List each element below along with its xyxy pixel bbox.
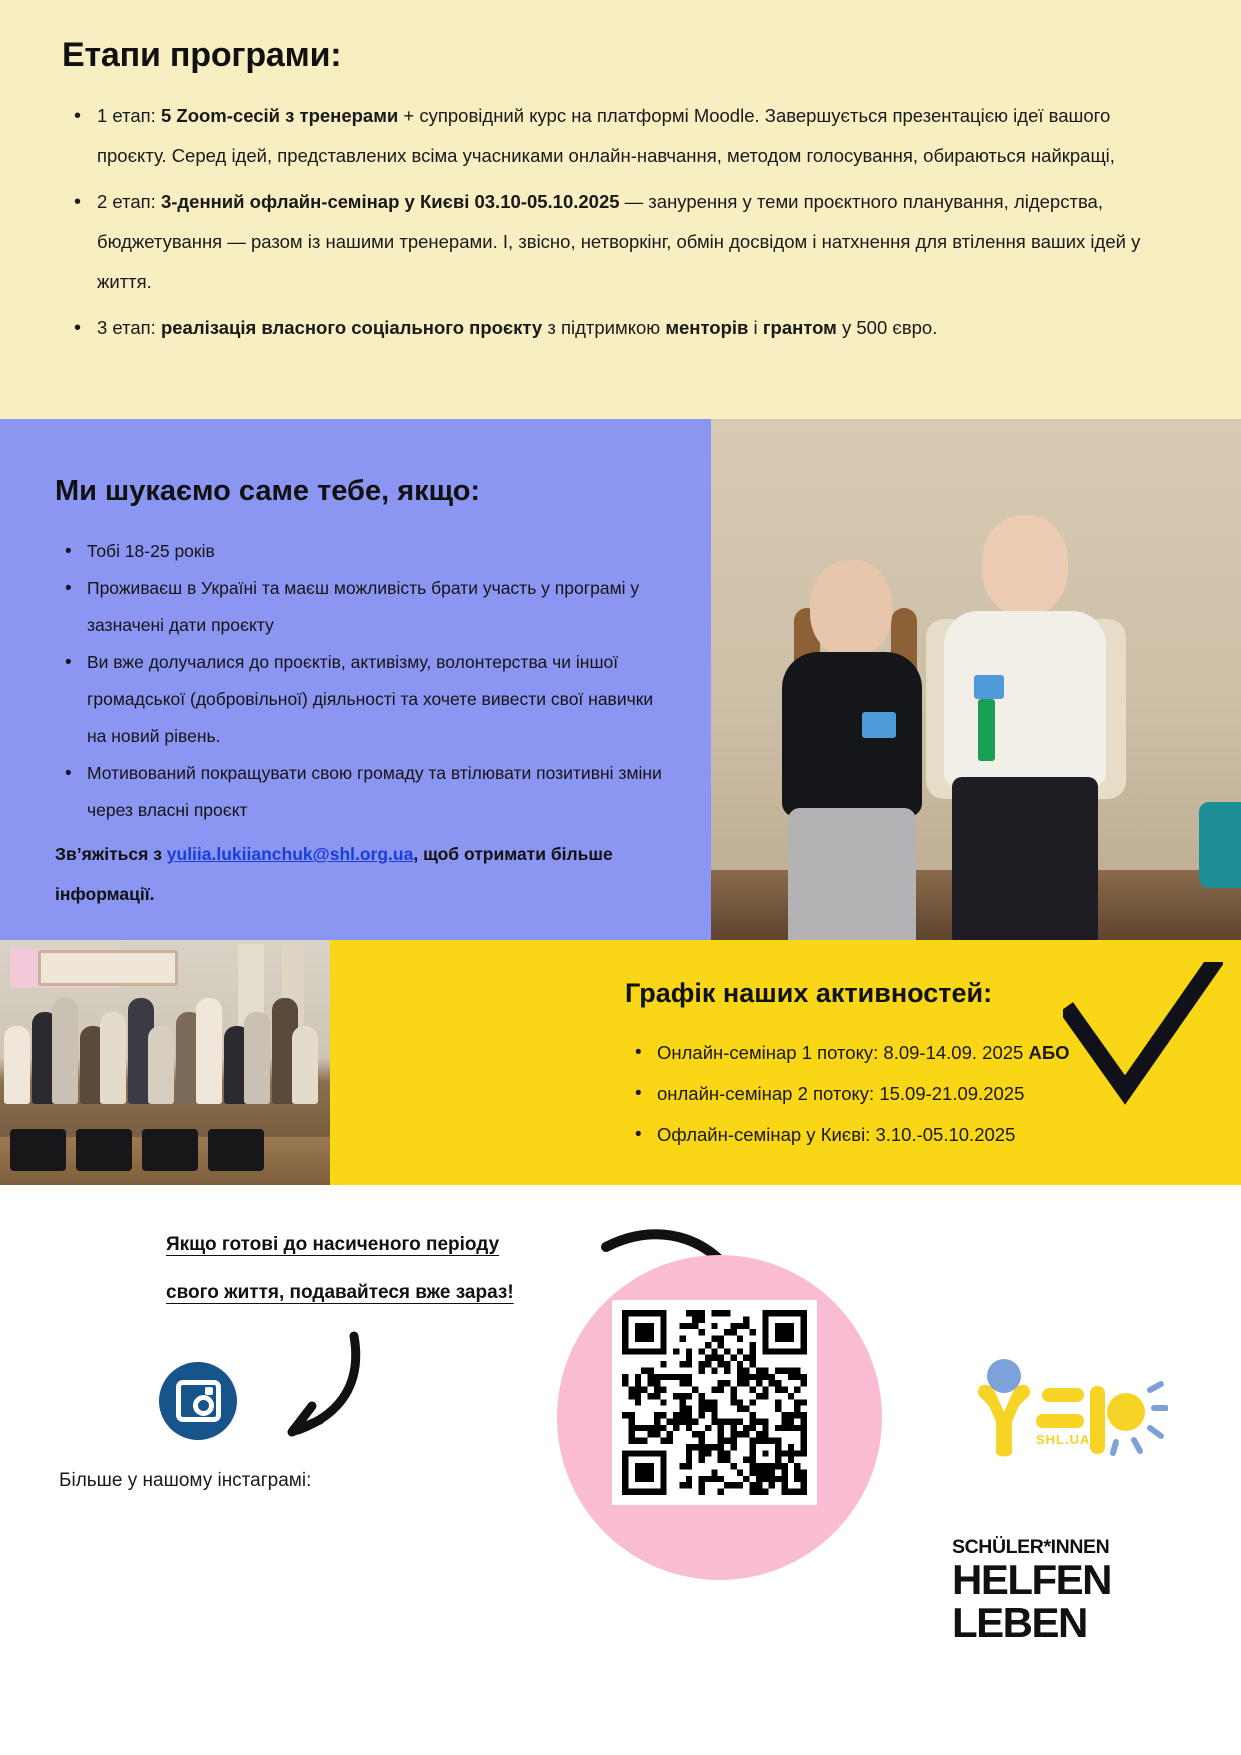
photo-person-left: [766, 560, 941, 940]
crowd-person: [196, 998, 222, 1104]
chair: [76, 1129, 132, 1171]
cta-line-2: свого життя, подавайтеся вже зараз!: [166, 1282, 514, 1303]
list-item: Тобі 18-25 років: [55, 533, 675, 570]
crowd-person: [100, 1012, 126, 1104]
stage-1-bold: 5 Zoom-сесій з тренерами: [161, 105, 398, 126]
poster-page: Етапи програми: 1 етап: 5 Zoom-сесій з т…: [0, 0, 1241, 1755]
qr-code[interactable]: [622, 1310, 807, 1495]
teal-object: [1199, 802, 1241, 888]
chair: [208, 1129, 264, 1171]
photo-crowd: [0, 992, 330, 1104]
chair: [142, 1129, 198, 1171]
qr-code-container[interactable]: [612, 1300, 817, 1505]
curved-arrow-to-instagram-icon: [236, 1330, 366, 1450]
stage-3-rest2: і: [748, 317, 762, 338]
instagram-caption: Більше у нашому інстаграмі:: [59, 1470, 311, 1492]
crowd-person: [292, 1026, 318, 1104]
stage-3-bold3: грантом: [763, 317, 837, 338]
list-item: Ви вже долучалися до проєктів, активізму…: [55, 644, 675, 755]
instagram-camera-outline: [176, 1380, 221, 1422]
checkmark-icon: [1063, 962, 1223, 1112]
list-item: Мотивований покращувати свою громаду та …: [55, 755, 675, 829]
photo-screen: [38, 950, 178, 986]
name-badge: [974, 675, 1004, 699]
photo-person-right: [926, 515, 1126, 940]
trousers: [952, 777, 1098, 940]
schedule-item-2-text: онлайн-семінар 2 потоку: 15.09-21.09.202…: [657, 1083, 1024, 1104]
instagram-lens: [193, 1395, 214, 1416]
top-garment: [782, 652, 922, 817]
contact-line: Зв’яжіться з yuliia.lukiianchuk@shl.org.…: [55, 834, 695, 914]
crowd-person: [148, 1026, 174, 1104]
chair: [10, 1129, 66, 1171]
crowd-person: [52, 998, 78, 1104]
program-stages-list: 1 етап: 5 Zoom-сесій з тренерами + супро…: [62, 96, 1162, 354]
stage-3-rest: з підтримкою: [542, 317, 665, 338]
stage-3-prefix: 3 етап:: [97, 317, 161, 338]
program-stages-heading: Етапи програми:: [62, 36, 341, 75]
criteria-list: Тобі 18-25 років Проживаєш в Україні та …: [55, 533, 675, 829]
list-item: 2 етап: 3-денний офлайн-семінар у Києві …: [62, 182, 1162, 302]
instagram-flash-dot: [205, 1387, 213, 1395]
stage-3-rest3: у 500 євро.: [837, 317, 938, 338]
list-item: Офлайн-семінар у Києві: 3.10.-05.10.2025: [625, 1114, 1241, 1155]
list-item: 3 етап: реалізація власного соціального …: [62, 308, 1162, 348]
group-photo: [0, 940, 330, 1185]
criteria-heading: Ми шукаємо саме тебе, якщо:: [55, 475, 480, 508]
trousers: [788, 808, 916, 940]
photo-chairs: [10, 1125, 270, 1171]
partner-logo: SCHÜLER*INNEN HELFEN LEBEN: [952, 1535, 1152, 1645]
partner-logo-line-2: HELFEN: [952, 1559, 1152, 1601]
shl-ua-logo: SHL.UA: [968, 1352, 1168, 1462]
schedule-item-1-text: Онлайн-семінар 1 потоку: 8.09-14.09. 202…: [657, 1042, 1028, 1063]
list-item: 1 етап: 5 Zoom-сесій з тренерами + супро…: [62, 96, 1162, 176]
schedule-section: Графік наших активностей: Онлайн-семінар…: [330, 940, 1241, 1185]
stage-3-bold2: менторів: [665, 317, 748, 338]
partner-logo-line-3: LEBEN: [952, 1601, 1152, 1645]
schedule-item-3-text: Офлайн-семінар у Києві: 3.10.-05.10.2025: [657, 1124, 1015, 1145]
shl-ua-wordmark: SHL.UA: [1036, 1432, 1090, 1447]
criteria-section: Ми шукаємо саме тебе, якщо: Тобі 18-25 р…: [0, 419, 711, 940]
program-stages-section: Етапи програми: 1 етап: 5 Zoom-сесій з т…: [0, 0, 1241, 419]
crowd-person: [244, 1012, 270, 1104]
stage-2-bold: 3-денний офлайн-семінар у Києві 03.10-05…: [161, 191, 620, 212]
face-shape: [982, 515, 1068, 615]
contact-email-link[interactable]: yuliia.lukiianchuk@shl.org.ua: [167, 844, 414, 864]
crowd-person: [4, 1026, 30, 1104]
cta-line-1: Якщо готові до насиченого періоду: [166, 1234, 499, 1255]
instagram-icon[interactable]: [159, 1362, 237, 1440]
lanyard: [978, 699, 995, 761]
face-shape: [810, 560, 892, 656]
stage-2-prefix: 2 етап:: [97, 191, 161, 212]
name-badge: [862, 712, 896, 738]
contact-prefix: Зв’яжіться з: [55, 844, 167, 864]
list-item: Проживаєш в Україні та маєш можливість б…: [55, 570, 675, 644]
schedule-heading: Графік наших активностей:: [625, 978, 992, 1009]
stage-1-prefix: 1 етап:: [97, 105, 161, 126]
participants-photo: [711, 419, 1241, 940]
stage-3-bold: реалізація власного соціального проєкту: [161, 317, 542, 338]
call-to-action-text: Якщо готові до насиченого періоду свого …: [166, 1221, 566, 1317]
top-garment: [944, 611, 1106, 786]
